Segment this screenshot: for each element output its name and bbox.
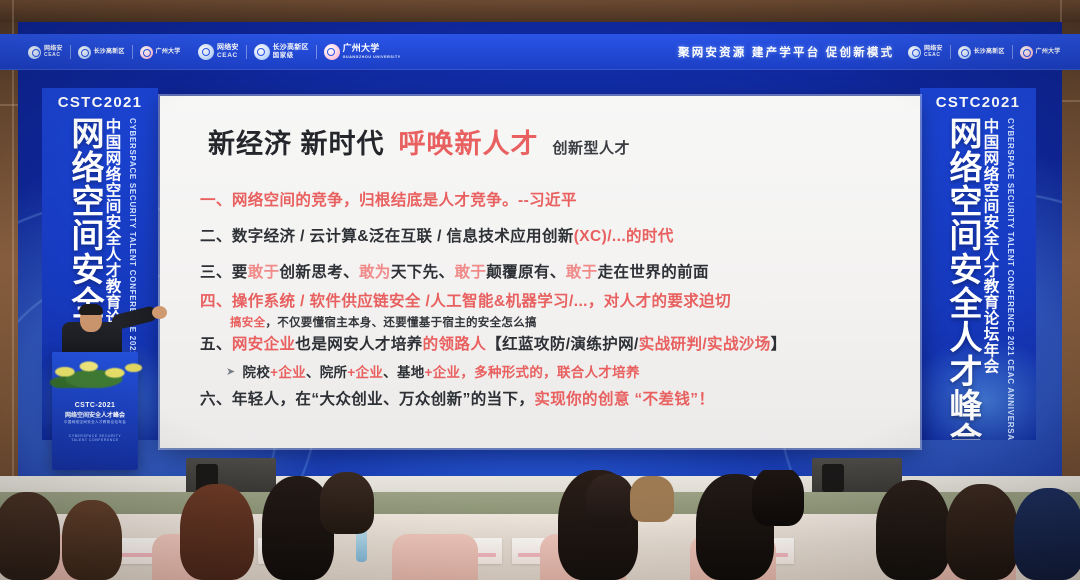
logo-divider <box>950 45 951 59</box>
slide-item-3: 三、要敢于创新思考、敢为天下先、敢于颠覆原有、敢于走在世界的前面 <box>200 255 892 291</box>
slide-item-4: 四、操作系统 / 软件供应链安全 /人工智能&机器学习/...，对人才的要求迫切 <box>200 291 892 313</box>
logo-group-left: 网络安CEAC 长沙高新区 广州大学 <box>28 40 180 64</box>
audience-head <box>752 470 804 526</box>
slide-item-1: 一、网络空间的竞争，归根结底是人才竞争。--习近平 <box>200 183 892 219</box>
audience-chair <box>392 534 478 580</box>
slide-item-6: 六、年轻人，在“大众创业、万众创新”的当下，实现你的创意 “不差钱”！ <box>200 383 892 417</box>
guangzhou-university-logo-icon <box>324 44 340 60</box>
slide-title-red: 呼唤新人才 <box>399 122 539 161</box>
audience-head <box>946 484 1018 580</box>
slide-title-small: 创新型人才 <box>553 137 631 158</box>
guangzhou-university-logo: 广州大学 <box>140 46 181 59</box>
guangzhou-university-logo-icon <box>1020 46 1033 59</box>
logo-divider <box>246 45 247 59</box>
banner-cstc-label: CSTC2021 <box>920 94 1036 111</box>
podium-plate: CSTC-2021 网络空间安全人才峰会 中国网络空间安全人才教育论坛年会 CY… <box>61 402 129 444</box>
guangzhou-university-logo-main: 广州大学GUANGZHOU UNIVERSITY <box>324 44 401 61</box>
podium-sub-title: 中国网络空间安全人才教育论坛年会 <box>61 420 129 425</box>
ceiling-beam <box>0 0 1080 22</box>
banner-cstc-label: CSTC2021 <box>42 94 158 111</box>
logo-group-right: 网络安CEAC 长沙高新区 广州大学 <box>908 40 1060 64</box>
partner-logo: 长沙高新区 <box>78 46 125 59</box>
podium-english-title: CYBERSPACE SECURITY TALENT CONFERENCE <box>61 434 129 442</box>
podium-main-title: 网络空间安全人才峰会 <box>61 410 129 419</box>
podium-cstc-label: CSTC-2021 <box>61 402 129 409</box>
logo-group-center: 网络安CEAC 长沙高新区国家级 广州大学GUANGZHOU UNIVERSIT… <box>198 40 401 64</box>
ceac-logo-icon <box>908 46 921 59</box>
banner-main-title: 网络空间安全人才峰会 <box>934 116 980 440</box>
slide-title: 新经济 新时代 呼唤新人才 创新型人才 <box>208 122 892 161</box>
ceac-logo-icon <box>28 46 41 59</box>
audience-head <box>180 484 254 580</box>
slide-content: 新经济 新时代 呼唤新人才 创新型人才 一、网络空间的竞争，归根结底是人才竞争。… <box>160 96 920 448</box>
logo-divider <box>316 45 317 59</box>
projection-screen: 新经济 新时代 呼唤新人才 创新型人才 一、网络空间的竞争，归根结底是人才竞争。… <box>160 96 920 448</box>
audience-head <box>62 500 122 580</box>
partner-logo-icon <box>254 44 270 60</box>
side-banner-right: CSTC2021 网络空间安全人才峰会 中国网络空间安全人才教育论坛年会 CYB… <box>920 88 1036 440</box>
logo-divider <box>70 45 71 59</box>
partner-logo-icon <box>78 46 91 59</box>
guangzhou-university-logo: 广州大学 <box>1020 46 1061 59</box>
partner-logo-main: 长沙高新区国家级 <box>254 44 309 60</box>
speaker-hair <box>79 304 103 315</box>
wall-seam-left <box>0 104 20 106</box>
speaker-hand <box>152 306 167 319</box>
slide-item-5-bullet: ➤ 院校+企业、院所+企业、基地+企业，多种形式的，联合人才培养 <box>226 359 892 383</box>
conference-photo: 网络安CEAC 长沙高新区 广州大学 网络安CEAC 长沙高新区国家级 广州大学… <box>0 0 1080 580</box>
ceac-logo-icon <box>198 44 214 60</box>
partner-logo: 长沙高新区 <box>958 46 1005 59</box>
audience-head <box>630 476 674 522</box>
audience-head <box>320 472 374 534</box>
banner-english-title: CYBERSPACE SECURITY TALENT CONFERENCE 20… <box>1006 118 1014 440</box>
partner-logo-icon <box>958 46 971 59</box>
podium-flowers <box>42 352 146 388</box>
bullet-arrow-icon: ➤ <box>226 365 236 378</box>
banner-sub-title: 中国网络空间安全人才教育论坛年会 <box>982 118 998 374</box>
slide-item-4-subline: 搞安全，不仅要懂宿主本身、还要懂基于宿主的安全怎么搞 <box>230 313 892 331</box>
led-slogan: 聚网安资源 建产学平台 促创新模式 <box>678 44 894 60</box>
audience-head <box>0 492 60 580</box>
audience-head <box>876 480 950 580</box>
wall-seam-left-v <box>12 0 14 500</box>
audience-head <box>1014 488 1080 580</box>
audience-head <box>586 474 634 528</box>
slide-title-black: 新经济 新时代 <box>208 122 385 161</box>
slide-bullet-list: 一、网络空间的竞争，归根结底是人才竞争。--习近平 二、数字经济 / 云计算&泛… <box>200 183 892 417</box>
ceac-logo: 网络安CEAC <box>908 46 943 59</box>
logo-divider <box>132 45 133 59</box>
logo-divider <box>1012 45 1013 59</box>
guangzhou-university-logo-icon <box>140 46 153 59</box>
audience-area <box>0 470 1080 580</box>
ceac-logo: 网络安CEAC <box>28 46 63 59</box>
slide-item-5: 五、网安企业也是网安人才培养的领路人【红蓝攻防/演练护网/实战研判/实战沙场】 <box>200 331 892 359</box>
slide-item-2: 二、数字经济 / 云计算&泛在互联 / 信息技术应用创新(XC)/...的时代 <box>200 219 892 255</box>
ceac-logo-main: 网络安CEAC <box>198 44 239 60</box>
